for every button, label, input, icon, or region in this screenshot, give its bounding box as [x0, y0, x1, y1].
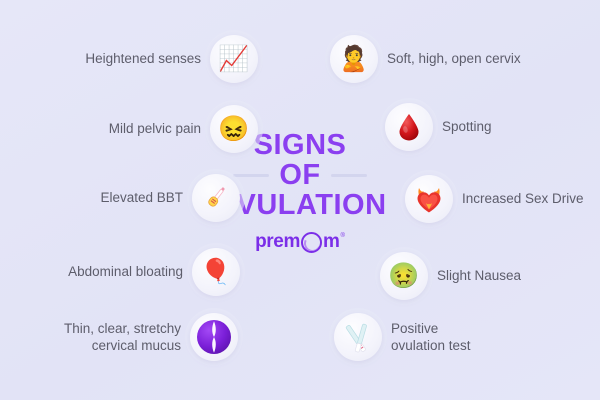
sign-label: Spotting	[442, 118, 492, 135]
logo-text-suffix: m	[323, 231, 340, 253]
thermometer-icon	[192, 174, 240, 222]
sign-item-spotting: Spotting	[385, 103, 595, 151]
nauseated-face-icon: 🤢	[380, 252, 428, 300]
sign-item-heightened-senses: Heightened senses 📈	[18, 35, 258, 83]
cervical-mucus-icon	[190, 313, 238, 361]
sign-item-elevated-bbt: Elevated BBT	[8, 174, 240, 222]
sign-item-cervical-mucus: Thin, clear, stretchy cervical mucus	[24, 313, 238, 361]
heart-on-fire-glyph	[413, 183, 445, 215]
logo-registered-mark: ®	[340, 233, 344, 239]
sign-item-positive-ovulation-test: Positive ovulation test	[334, 313, 594, 361]
sign-item-slight-nausea: 🤢 Slight Nausea	[380, 252, 600, 300]
signs-of-ovulation-infographic: SIGNS OF OVULATION prem m ® Heightened s…	[0, 0, 600, 400]
confounded-face-glyph: 😖	[218, 117, 249, 142]
sign-item-mild-pelvic-pain: Mild pelvic pain 😖	[18, 105, 258, 153]
title-dash-right	[331, 174, 367, 177]
sign-item-soft-high-open-cervix: 🙎 Soft, high, open cervix	[330, 35, 595, 83]
confounded-face-icon: 😖	[210, 105, 258, 153]
logo-swirl-icon	[301, 232, 322, 253]
chart-increasing-glyph: 📈	[218, 47, 249, 72]
sign-item-increased-sex-drive: Increased Sex Drive	[405, 175, 600, 223]
ovulation-test-strip-glyph	[340, 319, 376, 355]
sign-label: Positive ovulation test	[391, 320, 471, 355]
sign-item-abdominal-bloating: Abdominal bloating 🎈	[0, 248, 240, 296]
chart-increasing-icon: 📈	[210, 35, 258, 83]
sign-label: Soft, high, open cervix	[387, 50, 521, 67]
thermometer-glyph	[201, 183, 231, 213]
sign-label: Thin, clear, stretchy cervical mucus	[64, 320, 181, 355]
sign-label: Increased Sex Drive	[462, 190, 584, 207]
logo-text-prefix: prem	[255, 231, 300, 253]
blood-drop-icon	[385, 103, 433, 151]
balloon-glyph: 🎈	[200, 260, 231, 285]
person-gesturing-ok-icon: 🙎	[330, 35, 378, 83]
person-gesturing-ok-glyph: 🙎	[338, 47, 369, 72]
sign-label: Abdominal bloating	[68, 263, 183, 280]
sign-label: Mild pelvic pain	[109, 120, 201, 137]
balloon-icon: 🎈	[192, 248, 240, 296]
sign-label: Elevated BBT	[100, 189, 183, 206]
title-line-of: OF	[279, 160, 320, 190]
ovulation-test-strip-icon	[334, 313, 382, 361]
heart-on-fire-icon	[405, 175, 453, 223]
blood-drop-glyph	[396, 112, 422, 142]
sign-label: Heightened senses	[85, 50, 201, 67]
cervical-mucus-glyph	[195, 318, 233, 356]
nauseated-face-glyph: 🤢	[388, 264, 419, 289]
sign-label: Slight Nausea	[437, 267, 521, 284]
